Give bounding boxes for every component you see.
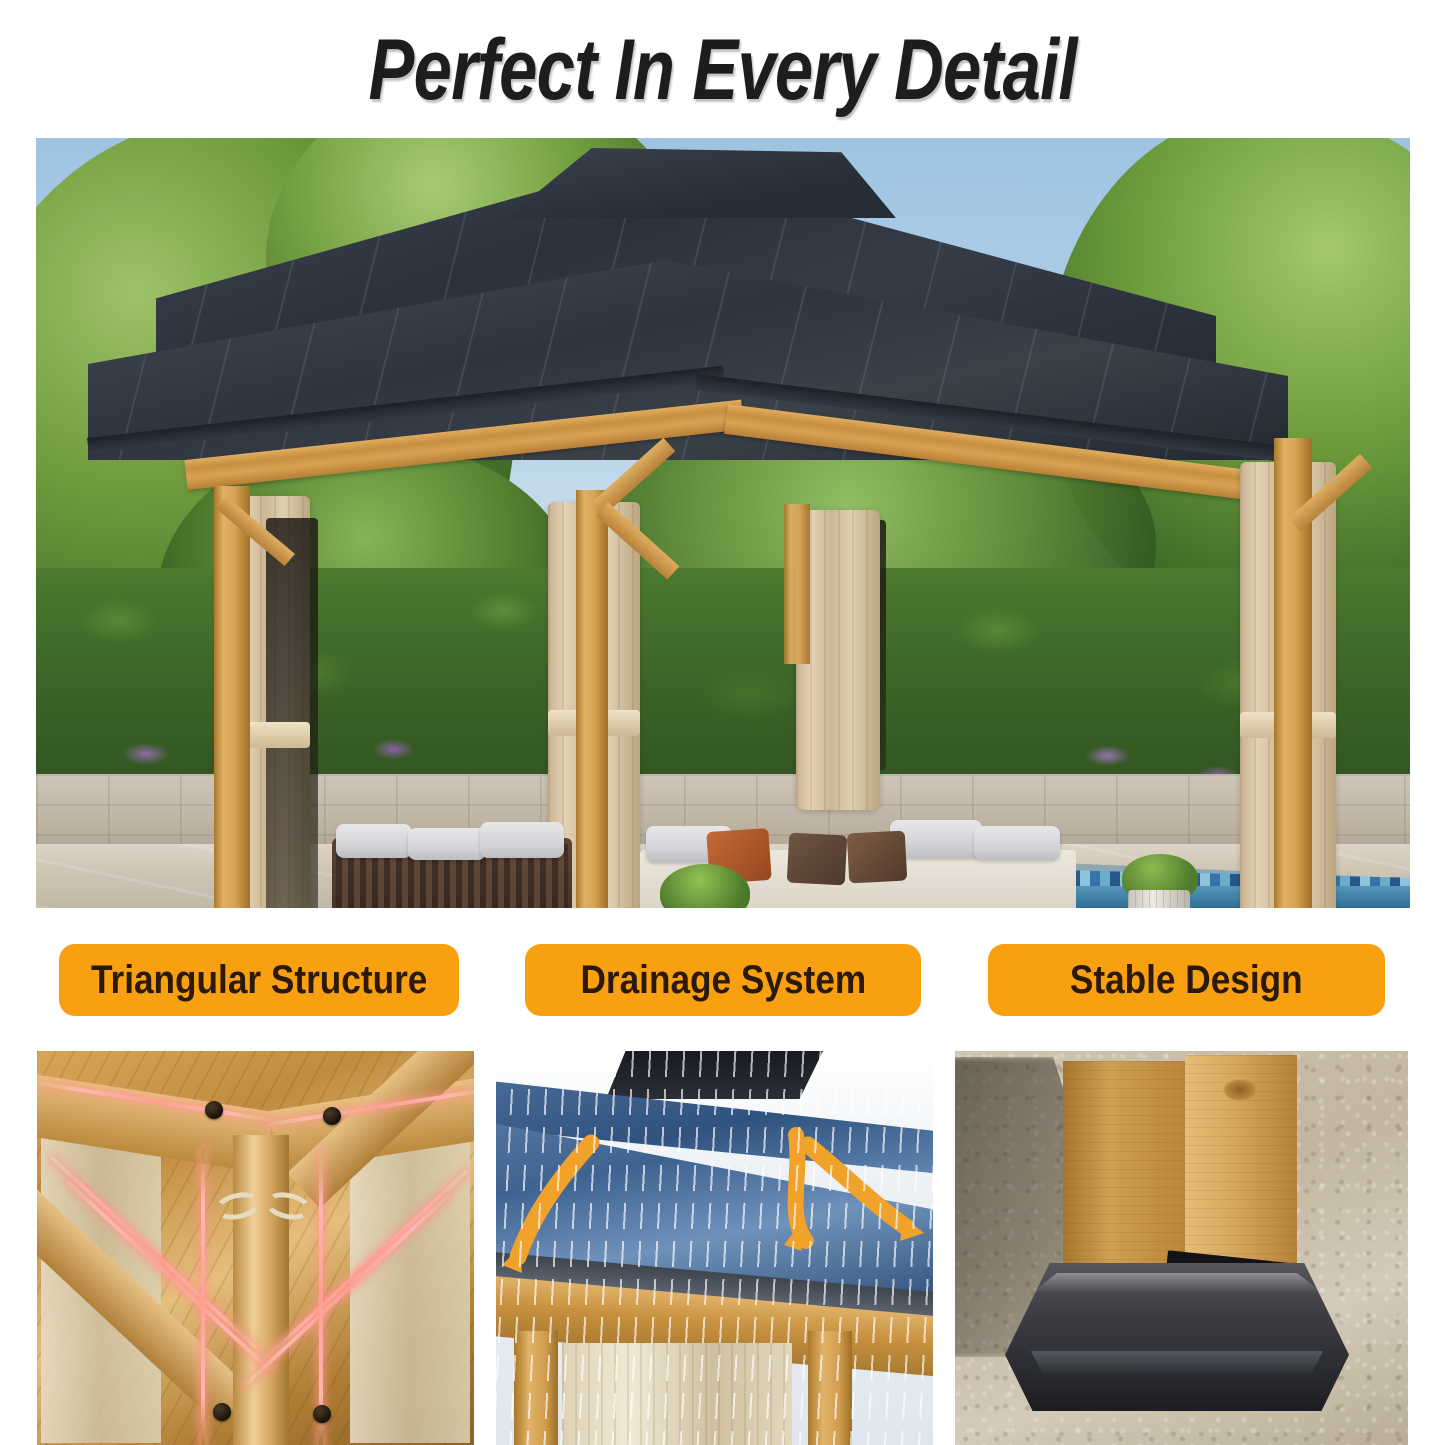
accent-pillow: [847, 831, 908, 884]
feature-badge-triangular-structure[interactable]: Triangular Structure: [59, 944, 459, 1016]
sofa-cushion: [336, 824, 412, 858]
mosquito-net: [266, 518, 318, 908]
feature-image-stable-design: [955, 1051, 1408, 1445]
feature-badge-label: Drainage System: [580, 958, 866, 1003]
corner-post: [233, 1135, 289, 1445]
sofa-cushion: [480, 822, 564, 858]
bolt-icon: [205, 1101, 223, 1119]
feature-badge-label: Stable Design: [1070, 958, 1303, 1003]
feature-image-triangular-structure: [37, 1051, 474, 1445]
hero-image: [36, 138, 1410, 908]
feature-badge-drainage-system[interactable]: Drainage System: [525, 944, 921, 1016]
planter-pot: [1128, 890, 1190, 908]
triangle-highlight-line: [319, 1149, 323, 1445]
feature-badge-stable-design[interactable]: Stable Design: [988, 944, 1385, 1016]
wood-knot: [1223, 1079, 1257, 1101]
gazebo-post: [214, 486, 250, 908]
base-plate-lip: [1011, 1351, 1343, 1377]
bolt-icon: [323, 1107, 341, 1125]
water-flow-arrows: [496, 1051, 933, 1445]
feature-image-drainage-system: [496, 1051, 933, 1445]
page-title-bar: Perfect In Every Detail: [0, 14, 1445, 126]
sofa-cushion: [408, 828, 486, 860]
curtain-tie-bow: [215, 1193, 313, 1221]
bolt-icon: [313, 1405, 331, 1423]
product-feature-page: Perfect In Every Detail: [0, 0, 1445, 1445]
feature-image-row: [0, 1051, 1445, 1445]
triangle-highlight-line: [201, 1149, 205, 1445]
base-plate-highlight: [1019, 1273, 1335, 1293]
gazebo-post: [576, 490, 608, 908]
bolt-icon: [213, 1403, 231, 1421]
page-title: Perfect In Every Detail: [368, 27, 1076, 113]
sofa-cushion: [974, 826, 1060, 860]
feature-badge-label: Triangular Structure: [91, 958, 427, 1003]
accent-pillow: [787, 833, 848, 886]
feature-badge-row: Triangular Structure Drainage System Sta…: [0, 944, 1445, 1016]
gazebo-post: [784, 504, 810, 664]
